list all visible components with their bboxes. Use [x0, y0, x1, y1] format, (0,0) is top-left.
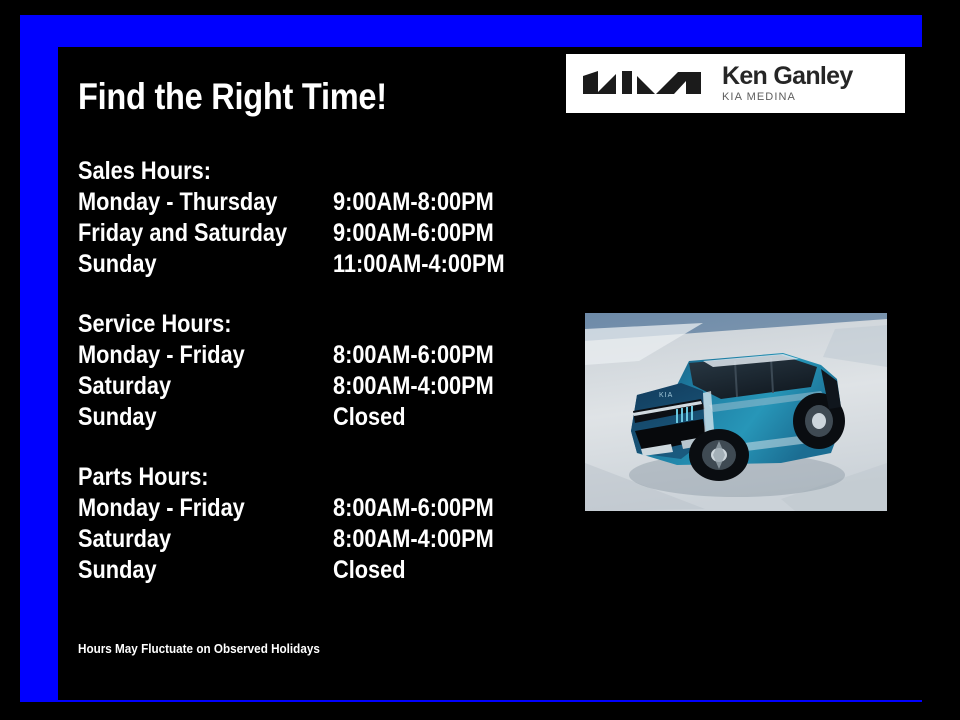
section-heading: Parts Hours:	[78, 462, 487, 493]
section-heading: Sales Hours:	[78, 156, 487, 187]
time-value: Closed	[333, 555, 406, 586]
day-label: Sunday	[78, 402, 157, 433]
time-value: 8:00AM-4:00PM	[333, 371, 494, 402]
section-heading: Service Hours:	[78, 309, 487, 340]
time-value: 9:00AM-8:00PM	[333, 187, 494, 218]
time-value: 8:00AM-6:00PM	[333, 340, 494, 371]
hours-row: Sunday Closed	[78, 555, 548, 586]
day-label: Friday and Saturday	[78, 218, 287, 249]
page-title: Find the Right Time!	[78, 76, 387, 118]
hours-section-parts: Parts Hours: Monday - Friday 8:00AM-6:00…	[78, 462, 548, 586]
time-value: 8:00AM-6:00PM	[333, 493, 494, 524]
hours-section-sales: Sales Hours: Monday - Thursday 9:00AM-8:…	[78, 156, 548, 280]
day-label: Sunday	[78, 555, 157, 586]
day-label: Sunday	[78, 249, 157, 280]
dealer-logo-text: Ken Ganley KIA MEDINA	[722, 64, 853, 103]
day-label: Saturday	[78, 371, 171, 402]
hours-row: Sunday 11:00AM-4:00PM	[78, 249, 548, 280]
hours-row: Saturday 8:00AM-4:00PM	[78, 371, 548, 402]
time-value: 11:00AM-4:00PM	[333, 249, 505, 280]
holiday-disclaimer: Hours May Fluctuate on Observed Holidays	[78, 641, 320, 656]
svg-text:KIA: KIA	[659, 392, 673, 399]
time-value: Closed	[333, 402, 406, 433]
time-value: 9:00AM-6:00PM	[333, 218, 494, 249]
kia-ev9-suv-photo: KIA	[585, 313, 887, 511]
dealer-name: Ken Ganley	[722, 64, 853, 89]
day-label: Monday - Friday	[78, 493, 245, 524]
hours-row: Monday - Friday 8:00AM-6:00PM	[78, 493, 548, 524]
hours-row: Saturday 8:00AM-4:00PM	[78, 524, 548, 555]
day-label: Monday - Thursday	[78, 187, 277, 218]
hours-row: Sunday Closed	[78, 402, 548, 433]
day-label: Monday - Friday	[78, 340, 245, 371]
hours-row: Monday - Thursday 9:00AM-8:00PM	[78, 187, 548, 218]
dealer-subtitle: KIA MEDINA	[722, 92, 853, 103]
kia-logo-icon	[580, 69, 704, 99]
hours-section-service: Service Hours: Monday - Friday 8:00AM-6:…	[78, 309, 548, 433]
hours-slide: Find the Right Time! Sales Hours: Monday…	[0, 0, 960, 720]
time-value: 8:00AM-4:00PM	[333, 524, 494, 555]
hours-row: Friday and Saturday 9:00AM-6:00PM	[78, 218, 548, 249]
dealer-logo: Ken Ganley KIA MEDINA	[566, 54, 905, 113]
day-label: Saturday	[78, 524, 171, 555]
hours-row: Monday - Friday 8:00AM-6:00PM	[78, 340, 548, 371]
hours-list: Sales Hours: Monday - Thursday 9:00AM-8:…	[78, 156, 548, 586]
